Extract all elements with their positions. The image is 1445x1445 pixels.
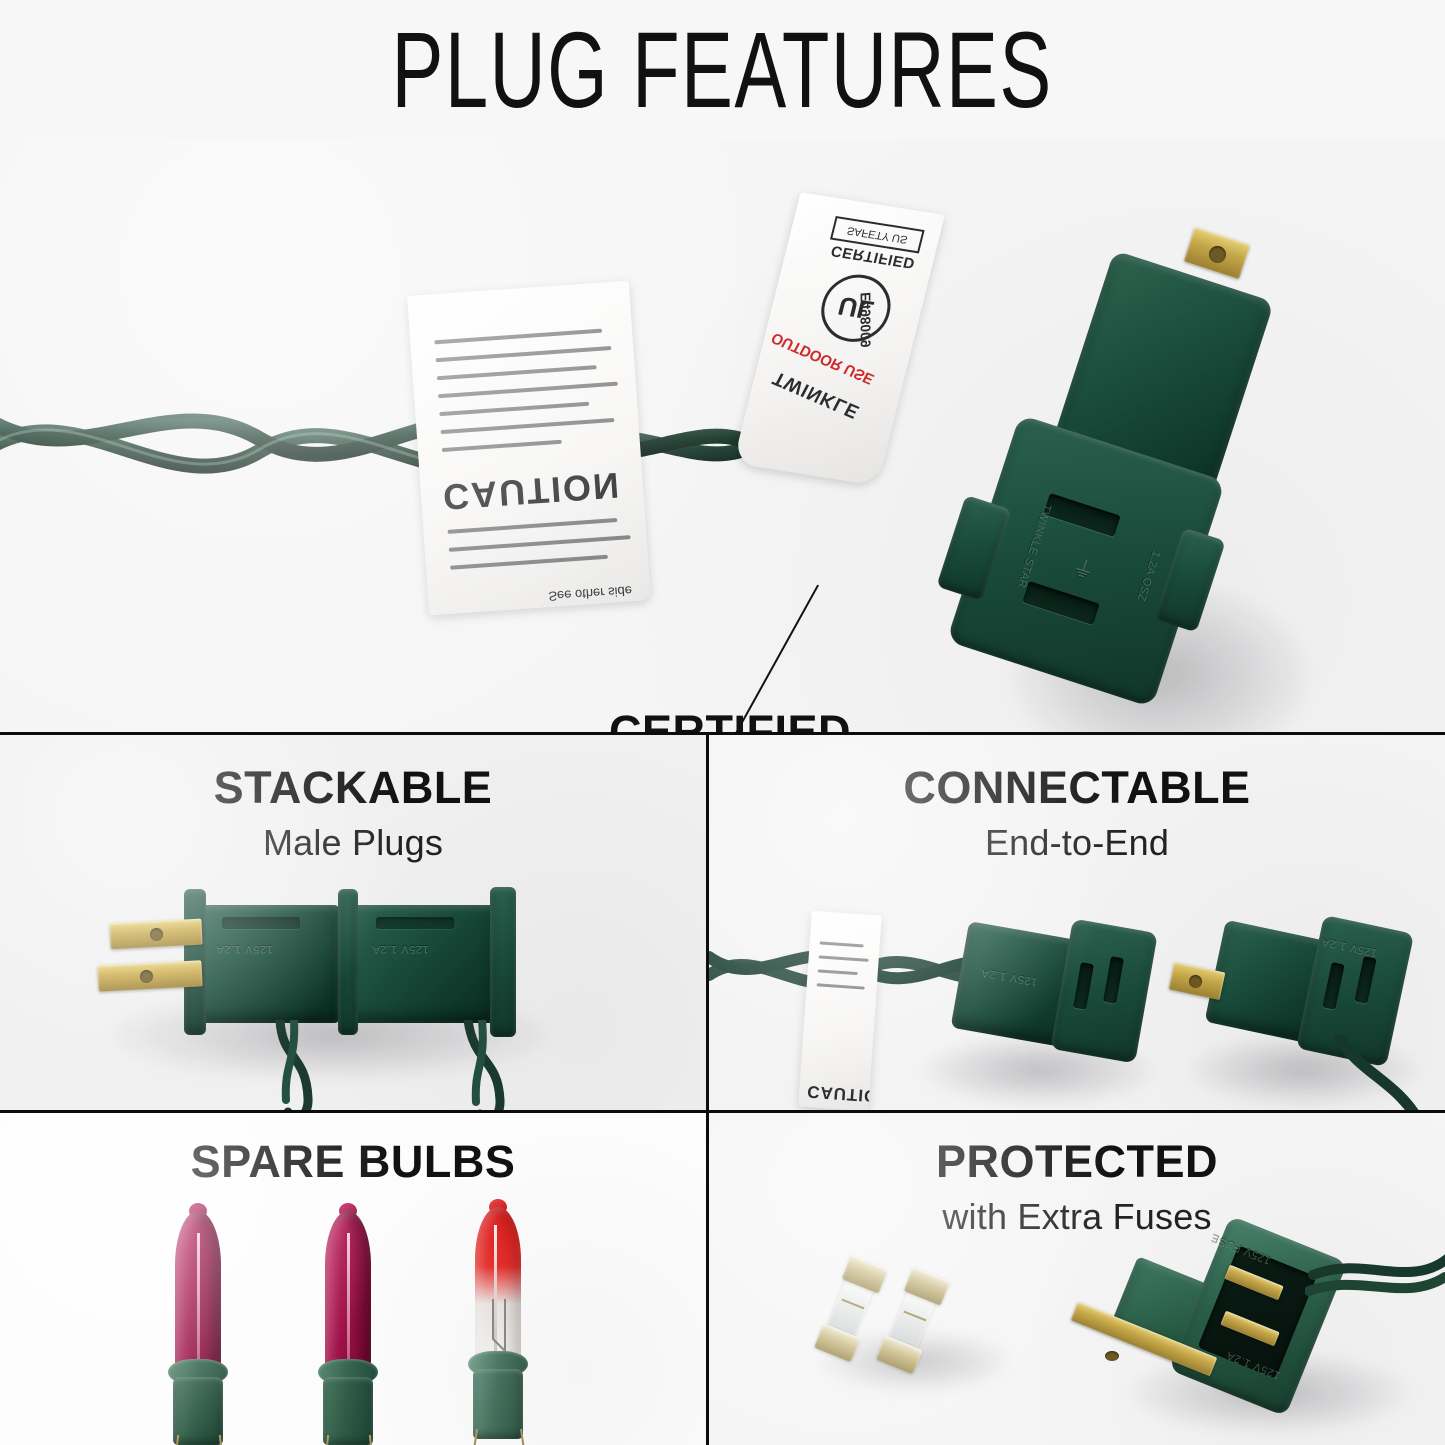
stackable-plug-b-collar [338,889,358,1035]
stackable-plug-b-endwall [490,887,516,1037]
caution-tag: CAUTION See other side [407,281,651,616]
connectable-male-prong-hole [1189,975,1202,988]
panel-connectable: CONNECTABLE End-to-End CAUTION 125V 1.2A… [709,735,1445,1110]
ul-logo-icon: UL [814,270,898,347]
caution-tag-footer: See other side [548,583,633,604]
connectable-caution-tag: CAUTION [798,911,882,1110]
stackable-plug-a-recess [222,917,300,929]
stackable-plug-a-emboss: 125V 1.2A [216,943,273,955]
protected-subtitle: with Extra Fuses [709,1199,1445,1235]
stackable-plug-b-emboss: 125V 1.2A [372,943,429,955]
protected-title: PROTECTED [709,1139,1445,1184]
connectable-subtitle: End-to-End [709,825,1445,861]
certified-callout-title: CERTIFIED [570,706,890,732]
ul-certification-tag: SAFETY US CERTIFIED UL OUTDOOR USE TWINK… [733,192,945,486]
connectable-caution-heading: CAUTION [807,1081,882,1107]
stackable-prong-upper-hole [150,928,163,941]
stackable-subtitle: Male Plugs [0,825,706,861]
stackable-plug-b-recess [376,917,454,929]
caution-tag-heading: CAUTION [442,464,622,518]
spare-bulbs-title: SPARE BULBS [0,1139,706,1184]
connectable-title: CONNECTABLE [709,765,1445,810]
infographic-page: PLUG FEATURES CAUTION [0,0,1445,1445]
protected-plug-blade-hole [1105,1351,1119,1361]
panel-spare-bulbs: SPARE BULBS [0,1113,706,1445]
divider-vertical-lower [706,1112,709,1445]
panel-stackable: STACKABLE Male Plugs 125V 1.2A 125V 1.2A [0,735,706,1110]
hero-plug-prong-hole [1209,246,1226,263]
panel-protected: PROTECTED with Extra Fuses 125V FUSE 125… [709,1113,1445,1445]
divider-horizontal-top [0,732,1445,735]
hero-panel: CAUTION See other side SAFETY US CERTIFI… [0,140,1445,732]
divider-horizontal-bottom [0,1110,1445,1113]
divider-vertical-upper [706,733,709,1110]
stackable-title: STACKABLE [0,765,706,810]
ul-code-label: E498009 [857,292,873,348]
stackable-prong-lower-hole [140,970,153,983]
page-title: PLUG FEATURES [392,16,1053,124]
title-bar: PLUG FEATURES [0,0,1445,140]
